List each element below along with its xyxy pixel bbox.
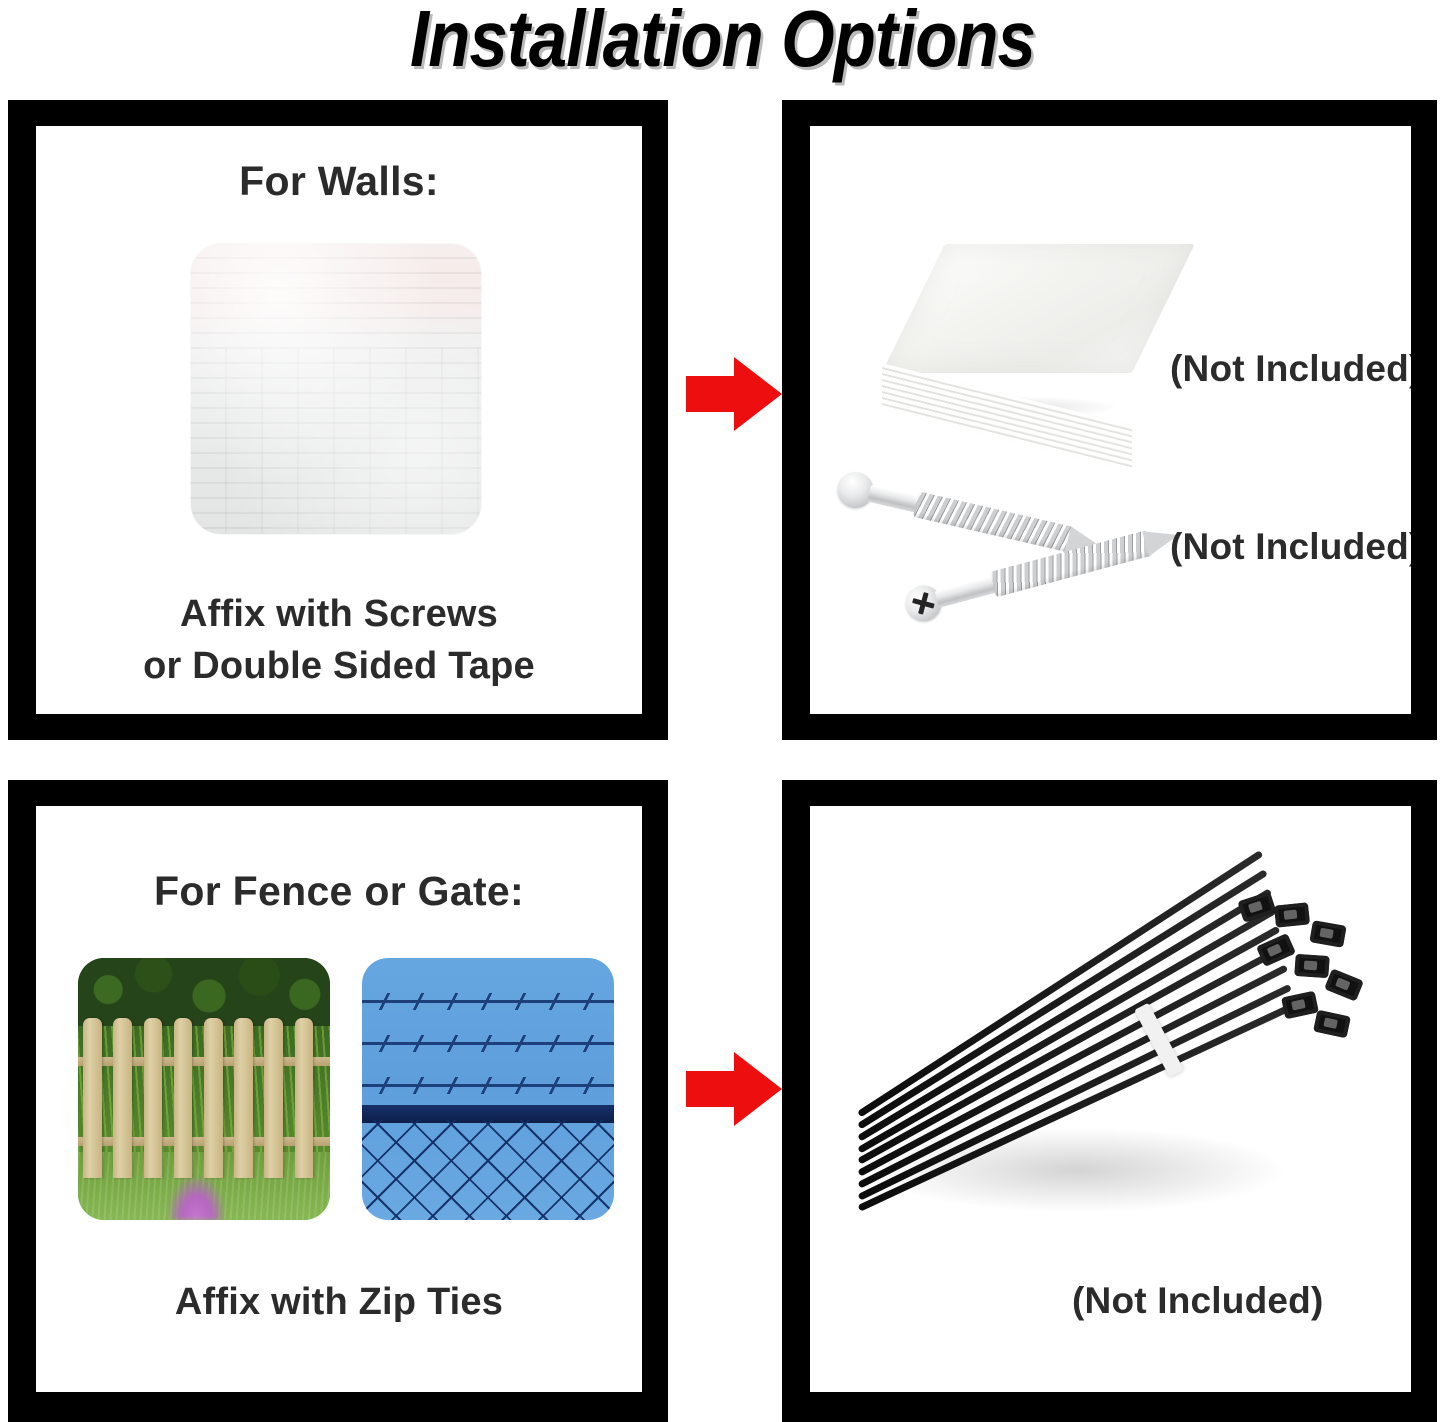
ziptie-head — [1309, 920, 1346, 948]
installation-options-infographic: Installation Options For Walls: Affix wi… — [0, 0, 1445, 1422]
panel-for-walls: For Walls: Affix with Screws or Double S… — [8, 100, 668, 740]
picket — [113, 1018, 132, 1178]
panel-for-walls-content: For Walls: Affix with Screws or Double S… — [36, 126, 642, 714]
ziptie-head — [1324, 969, 1364, 1002]
picket — [264, 1018, 283, 1178]
wooden-picket-fence-image — [78, 958, 330, 1220]
picket — [295, 1018, 314, 1178]
white-brick-wall-image — [191, 244, 481, 534]
picket — [234, 1018, 253, 1178]
panel-fence-hardware: (Not Included) — [782, 780, 1437, 1422]
zipties-not-included-label: (Not Included) — [1072, 1280, 1323, 1322]
barbed-wire-strand — [362, 1084, 614, 1087]
barbed-wire-strand — [362, 1000, 614, 1003]
screws-not-included-label: (Not Included) — [1170, 526, 1411, 568]
ziptie-head — [1274, 902, 1310, 927]
arrow-head — [734, 1052, 782, 1126]
arrow-shaft — [686, 1071, 740, 1107]
panel-fence-hardware-content: (Not Included) — [810, 806, 1411, 1392]
arrow-shaft — [686, 376, 740, 412]
tape-side-face — [882, 363, 1132, 472]
picket — [204, 1018, 223, 1178]
panel-wall-hardware: (Not Included) (Not Included) — [782, 100, 1437, 740]
ziptie-head — [1237, 891, 1276, 922]
caption-line-1: Affix with Screws — [180, 593, 498, 635]
ziptie-head — [1281, 990, 1319, 1019]
red-right-arrow-bottom — [686, 1052, 782, 1126]
ziptie-head-group — [1172, 884, 1370, 1080]
caption-line-2: or Double Sided Tape — [143, 645, 535, 687]
tape-top-face — [882, 244, 1195, 373]
ziptie-head — [1313, 1010, 1351, 1039]
brick-whitewash — [191, 244, 481, 534]
panel-for-fence-or-gate: For Fence or Gate: — [8, 780, 668, 1422]
ziptie-head — [1256, 933, 1296, 967]
black-zip-ties-bundle-image — [838, 884, 1360, 1276]
tape-not-included-label: (Not Included) — [1170, 348, 1411, 390]
for-walls-caption: Affix with Screws or Double Sided Tape — [36, 588, 642, 693]
barbed-wire-strand — [362, 1042, 614, 1045]
page-title: Installation Options — [101, 0, 1344, 82]
picket — [174, 1018, 193, 1178]
picket-group — [78, 1018, 330, 1178]
arrow-head — [734, 357, 782, 431]
picket — [83, 1018, 102, 1178]
for-walls-heading: For Walls: — [36, 158, 642, 205]
purple-path-patch — [169, 1178, 224, 1220]
chain-link-fence-image — [362, 958, 614, 1220]
ziptie-head — [1294, 953, 1329, 977]
picket — [144, 1018, 163, 1178]
for-fence-heading: For Fence or Gate: — [36, 868, 642, 915]
panel-wall-hardware-content: (Not Included) (Not Included) — [810, 126, 1411, 714]
chain-link-mesh — [362, 1120, 614, 1220]
panel-for-fence-content: For Fence or Gate: — [36, 806, 642, 1392]
for-fence-caption: Affix with Zip Ties — [36, 1276, 642, 1328]
double-sided-tape-stack-image — [882, 244, 1132, 409]
red-right-arrow-top — [686, 357, 782, 431]
screw-shank-2 — [935, 575, 999, 607]
